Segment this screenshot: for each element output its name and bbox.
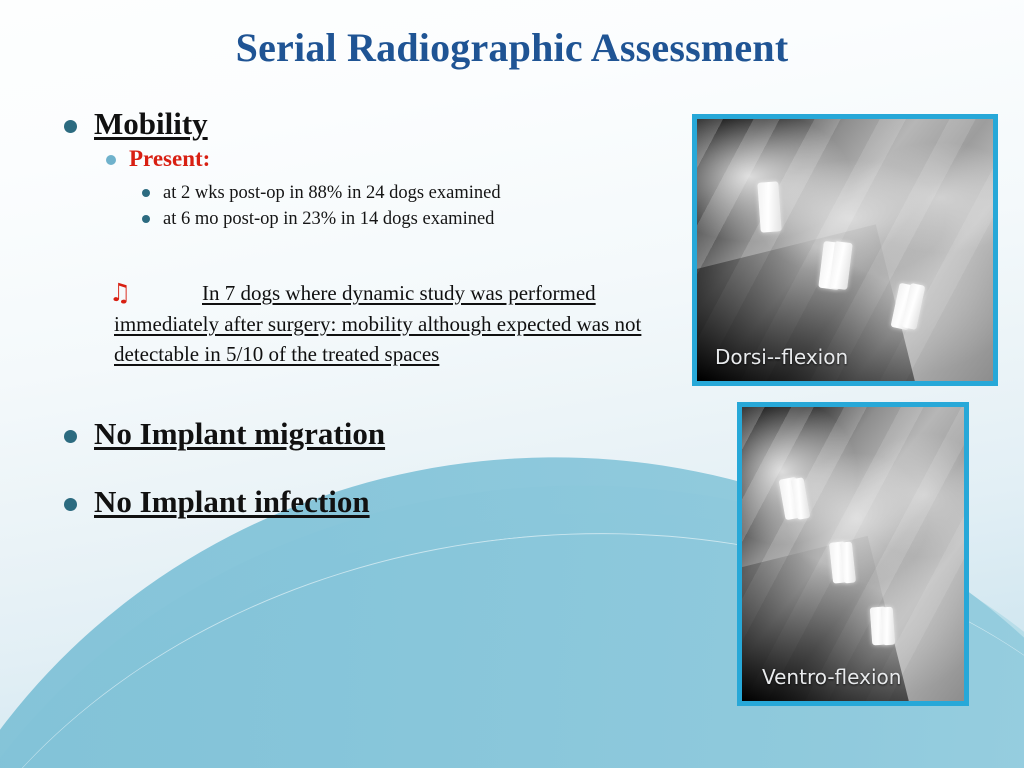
music-note-icon: ♫ <box>109 278 131 308</box>
caption-ventro-flexion: Ventro-flexion <box>762 665 901 689</box>
bullet-label-no-implant-migration: No Implant migration <box>94 414 385 454</box>
note-paragraph: In 7 dogs where dynamic study was perfor… <box>64 278 704 370</box>
bullet-label-mobility: Mobility <box>94 104 208 144</box>
bullet-dot-icon <box>64 120 77 133</box>
finding-6mo: at 6 mo post-op in 23% in 14 dogs examin… <box>163 206 494 232</box>
bullet-item-no-implant-migration: No Implant migration <box>64 414 724 454</box>
implant-marker <box>757 181 782 232</box>
bullet-dot-icon <box>64 430 77 443</box>
finding-2wk: at 2 wks post-op in 88% in 24 dogs exami… <box>163 180 501 206</box>
list-item: at 2 wks post-op in 88% in 24 dogs exami… <box>142 180 724 206</box>
dorsi-flexion-radiograph: Dorsi--flexion <box>692 114 998 386</box>
caption-dorsi-flexion: Dorsi--flexion <box>715 345 848 369</box>
slide-body: Mobility Present: at 2 wks post-op in 88… <box>64 104 724 522</box>
slide-title: Serial Radiographic Assessment <box>0 24 1024 72</box>
bullet-dot-icon <box>142 215 150 223</box>
bullet-item-mobility: Mobility <box>64 104 724 144</box>
bullet-item-no-implant-infection: No Implant infection <box>64 482 724 522</box>
presentation-slide: Serial Radiographic Assessment Mobility … <box>0 0 1024 768</box>
list-item: at 6 mo post-op in 23% in 14 dogs examin… <box>142 206 724 232</box>
conclusions-list: No Implant migration No Implant infectio… <box>64 414 724 522</box>
ventro-flexion-radiograph: Ventro-flexion <box>737 402 969 706</box>
note-block: ♫ In 7 dogs where dynamic study was perf… <box>64 278 704 370</box>
bullet-dot-icon <box>64 498 77 511</box>
bullet-label-no-implant-infection: No Implant infection <box>94 482 370 522</box>
bullet-dot-icon <box>106 155 116 165</box>
bullet-item-present: Present: <box>106 144 724 174</box>
bullet-label-present: Present: <box>129 144 210 174</box>
bullet-dot-icon <box>142 189 150 197</box>
